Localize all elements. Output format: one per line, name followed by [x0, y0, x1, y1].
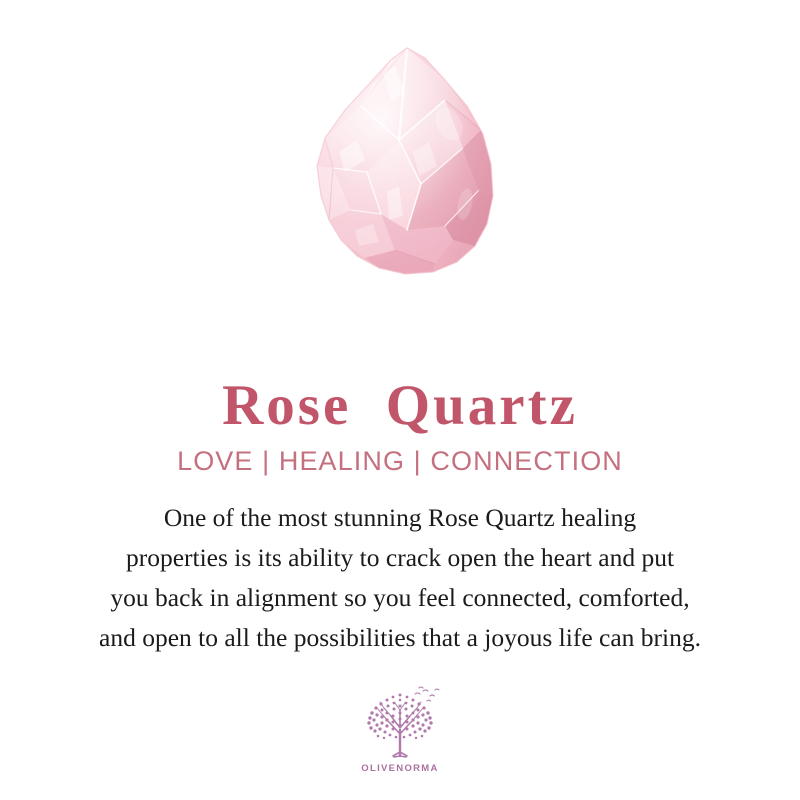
description-paragraph: One of the most stunning Rose Quartz hea…: [28, 498, 772, 658]
description-line: One of the most stunning Rose Quartz hea…: [28, 498, 772, 538]
brand-wordmark: OLIVENORMA: [361, 763, 438, 774]
description-line: you back in alignment so you feel connec…: [28, 578, 772, 618]
description-line: properties is its ability to crack open …: [28, 538, 772, 578]
keyword-subtitle: LOVE | HEALING | CONNECTION: [0, 444, 800, 478]
rose-quartz-info-card: Rose Quartz LOVE | HEALING | CONNECTION …: [0, 0, 800, 800]
rose-quartz-crystal-image: [295, 44, 505, 284]
page-title: Rose Quartz: [0, 374, 800, 438]
brand-logo: OLIVENORMA: [0, 686, 800, 774]
olive-tree-with-birds-icon: [357, 686, 443, 762]
hero-image-container: [0, 0, 800, 300]
description-line: and open to all the possibilities that a…: [28, 618, 772, 658]
